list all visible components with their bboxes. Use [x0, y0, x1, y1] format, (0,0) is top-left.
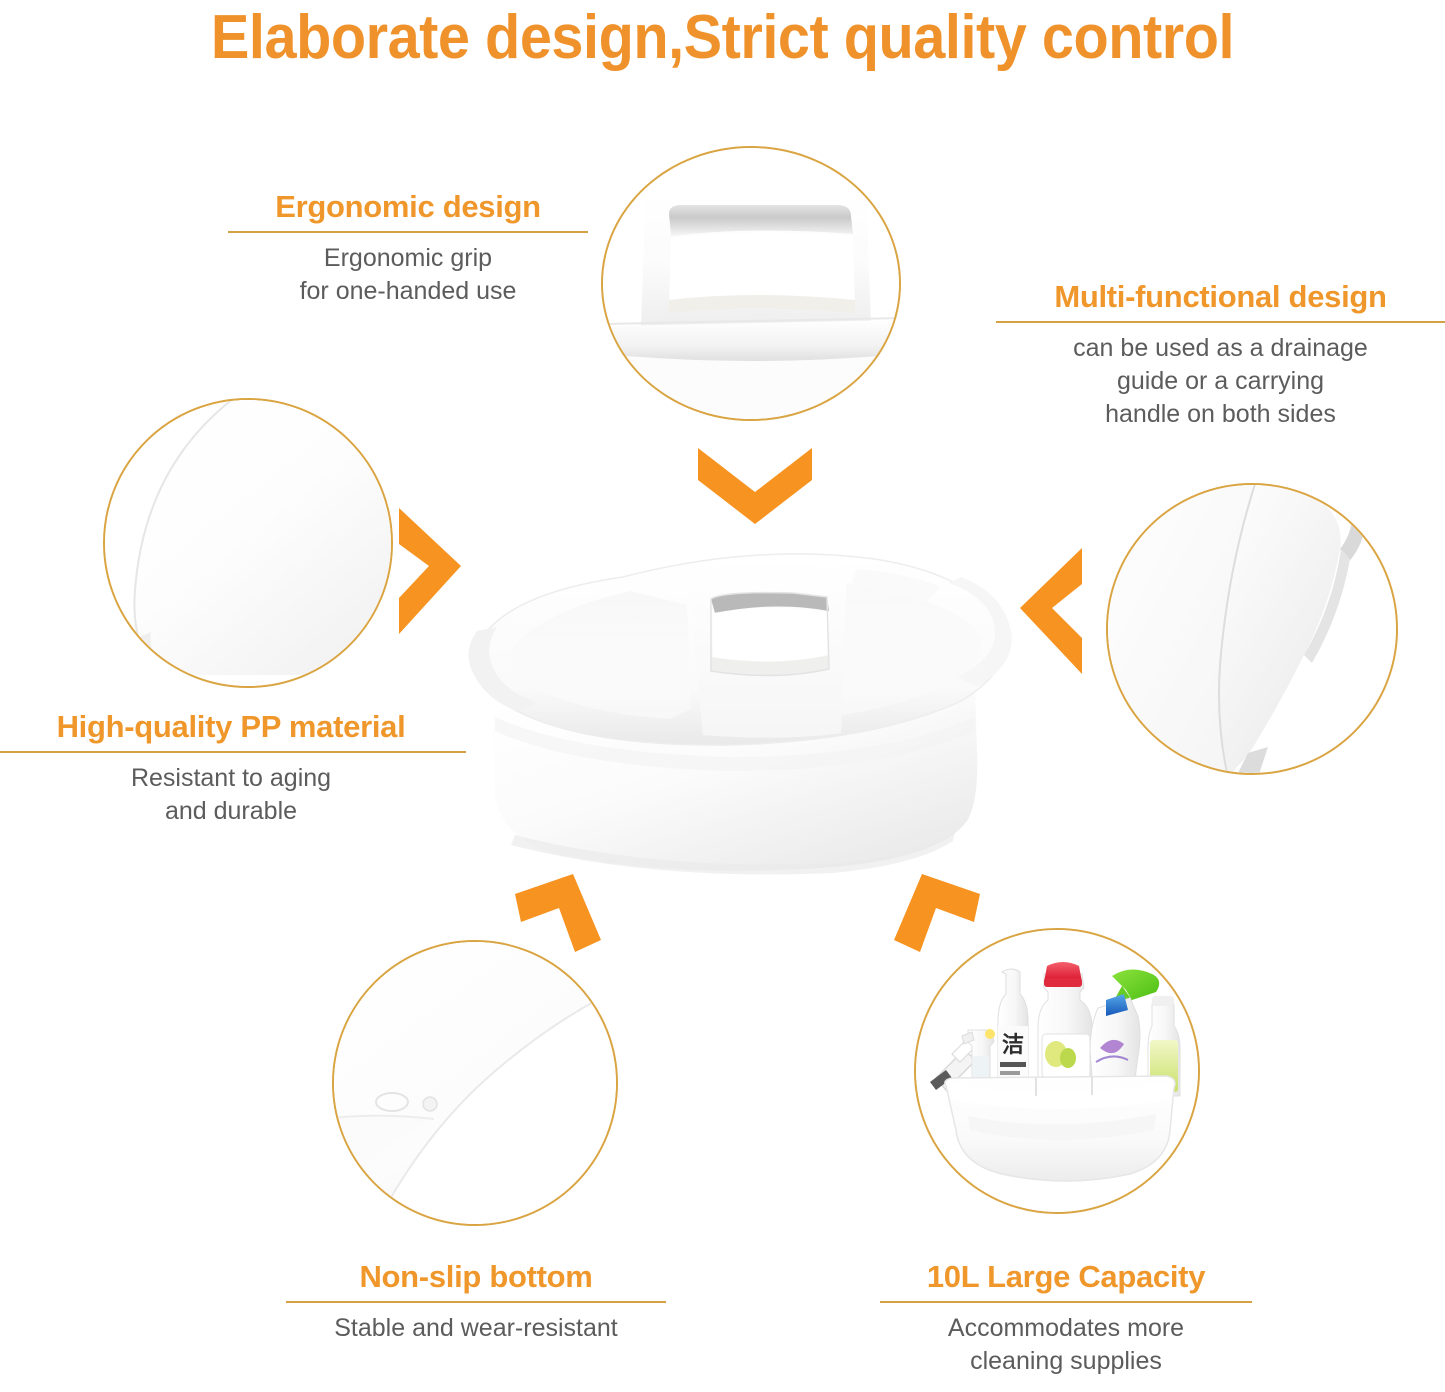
feature-multi-functional-design-body: can be used as a drainage guide or a car… — [996, 332, 1445, 431]
arrow-left-to-product-icon — [1016, 542, 1088, 682]
feature-high-quality-pp-material-body-line2: and durable — [0, 795, 466, 828]
photo-bubble-pp-material — [103, 398, 393, 688]
nonslip-bottom-image — [334, 942, 616, 1224]
photo-bubble-nonslip-bottom — [332, 940, 618, 1226]
arrow-down-to-product-icon — [694, 444, 816, 528]
infographic-page: Elaborate design,Strict quality control — [0, 0, 1445, 1392]
feature-non-slip-bottom: Non-slip bottom Stable and wear-resistan… — [286, 1258, 666, 1345]
photo-bubble-handle — [601, 146, 901, 421]
pp-surface-illustration — [105, 400, 391, 686]
feature-ergonomic-design-body: Ergonomic grip for one-handed use — [228, 242, 588, 308]
feature-ergonomic-design-body-line2: for one-handed use — [228, 275, 588, 308]
feature-ergonomic-design-heading: Ergonomic design — [228, 188, 588, 225]
feature-10l-large-capacity-body-line2: cleaning supplies — [880, 1345, 1252, 1378]
pp-material-closeup-image — [105, 400, 391, 686]
feature-ergonomic-design: Ergonomic design Ergonomic grip for one-… — [228, 188, 588, 308]
arrow-up-right-to-product-icon — [487, 866, 609, 958]
feature-10l-large-capacity-rule — [880, 1301, 1252, 1303]
feature-10l-large-capacity: 10L Large Capacity Accommodates more cle… — [880, 1258, 1252, 1378]
feature-10l-large-capacity-body: Accommodates more cleaning supplies — [880, 1312, 1252, 1378]
page-title: Elaborate design,Strict quality control — [51, 2, 1395, 74]
arrow-right-to-product-icon — [393, 500, 465, 640]
feature-multi-functional-design-heading: Multi-functional design — [996, 278, 1445, 315]
feature-high-quality-pp-material-rule — [0, 751, 466, 753]
feature-10l-large-capacity-heading: 10L Large Capacity — [880, 1258, 1252, 1295]
feature-multi-functional-design-body-line3: handle on both sides — [996, 398, 1445, 431]
feature-non-slip-bottom-body: Stable and wear-resistant — [286, 1312, 666, 1345]
arrow-up-left-to-product-icon — [886, 866, 1008, 958]
bottom-foot-illustration — [334, 942, 616, 1224]
feature-multi-functional-design-rule — [996, 321, 1445, 323]
feature-non-slip-bottom-body-line1: Stable and wear-resistant — [286, 1312, 666, 1345]
feature-high-quality-pp-material: High-quality PP material Resistant to ag… — [0, 708, 466, 828]
handle-closeup-illustration — [603, 148, 899, 419]
feature-high-quality-pp-material-body: Resistant to aging and durable — [0, 762, 466, 828]
caddy-with-supplies-image: 洁 — [916, 930, 1198, 1212]
svg-text:洁: 洁 — [1002, 1032, 1024, 1057]
photo-bubble-multifunction — [1106, 483, 1398, 775]
feature-multi-functional-design: Multi-functional design can be used as a… — [996, 278, 1445, 431]
product-image-main — [455, 535, 1035, 885]
feature-multi-functional-design-body-line2: guide or a carrying — [996, 365, 1445, 398]
feature-non-slip-bottom-rule — [286, 1301, 666, 1303]
cleaning-caddy-illustration — [455, 535, 1035, 885]
spout-closeup-image — [1108, 485, 1396, 773]
feature-10l-large-capacity-body-line1: Accommodates more — [880, 1312, 1252, 1345]
feature-non-slip-bottom-heading: Non-slip bottom — [286, 1258, 666, 1295]
feature-multi-functional-design-body-line1: can be used as a drainage — [996, 332, 1445, 365]
feature-high-quality-pp-material-heading: High-quality PP material — [0, 708, 466, 745]
spout-illustration — [1108, 485, 1396, 773]
feature-high-quality-pp-material-body-line1: Resistant to aging — [0, 762, 466, 795]
feature-ergonomic-design-body-line1: Ergonomic grip — [228, 242, 588, 275]
caddy-supplies-illustration: 洁 — [916, 930, 1198, 1212]
handle-closeup-image — [603, 148, 899, 419]
photo-bubble-capacity: 洁 — [914, 928, 1200, 1214]
feature-ergonomic-design-rule — [228, 231, 588, 233]
